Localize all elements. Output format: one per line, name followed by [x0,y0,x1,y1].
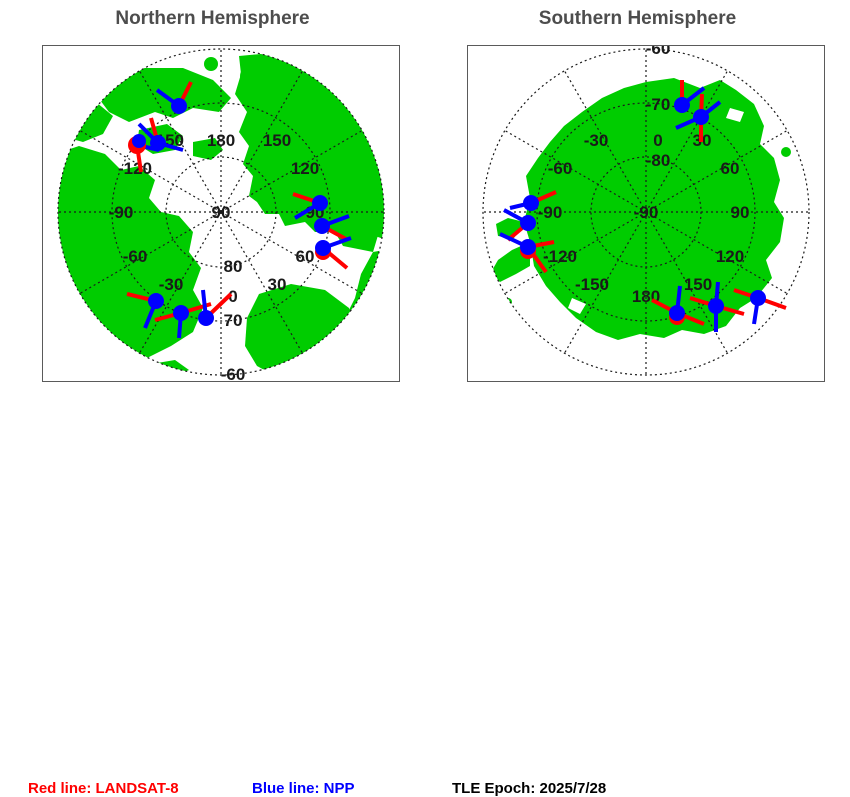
svg-text:-60: -60 [646,46,671,58]
svg-text:-60: -60 [221,365,246,381]
svg-text:-30: -30 [584,131,609,150]
svg-text:90: 90 [212,203,231,222]
svg-text:-120: -120 [118,159,152,178]
svg-text:90: 90 [731,203,750,222]
southern-hemisphere-panel: Southern Hemisphere [425,0,850,425]
svg-text:0: 0 [653,131,662,150]
southern-plot-frame: 0 30 60 90 120 150 180 -150 -120 -90 -60… [467,45,825,382]
svg-text:-30: -30 [159,275,184,294]
svg-text:80: 80 [224,257,243,276]
svg-text:60: 60 [721,159,740,178]
svg-text:60: 60 [296,247,315,266]
svg-text:-60: -60 [548,159,573,178]
legend-blue-line: Blue line: NPP [252,780,355,797]
svg-text:-60: -60 [123,247,148,266]
legend-footer: Red line: LANDSAT-8 Blue line: NPP TLE E… [0,385,850,425]
southern-map-svg: 0 30 60 90 120 150 180 -150 -120 -90 -60… [468,46,824,381]
legend-red-line: Red line: LANDSAT-8 [28,780,179,797]
svg-text:30: 30 [268,275,287,294]
northern-map-svg: 180 150 120 90 60 30 0 -30 -60 -90 -120 … [43,46,399,381]
svg-text:-90: -90 [109,203,134,222]
northern-hemisphere-title: Northern Hemisphere [0,8,425,30]
svg-text:-80: -80 [646,151,671,170]
svg-text:-90: -90 [634,203,659,222]
svg-text:150: 150 [263,131,291,150]
svg-text:-150: -150 [575,275,609,294]
svg-text:-90: -90 [538,203,563,222]
legend-tle-epoch: TLE Epoch: 2025/7/28 [452,780,606,797]
svg-text:150: 150 [684,275,712,294]
svg-text:120: 120 [716,247,744,266]
svg-text:180: 180 [207,131,235,150]
svg-text:-120: -120 [543,247,577,266]
svg-text:-70: -70 [646,95,671,114]
svg-text:70: 70 [224,311,243,330]
southern-hemisphere-title: Southern Hemisphere [425,8,850,30]
svg-text:120: 120 [291,159,319,178]
northern-plot-frame: 180 150 120 90 60 30 0 -30 -60 -90 -120 … [42,45,400,382]
northern-hemisphere-panel: Northern Hemisphere [0,0,425,425]
